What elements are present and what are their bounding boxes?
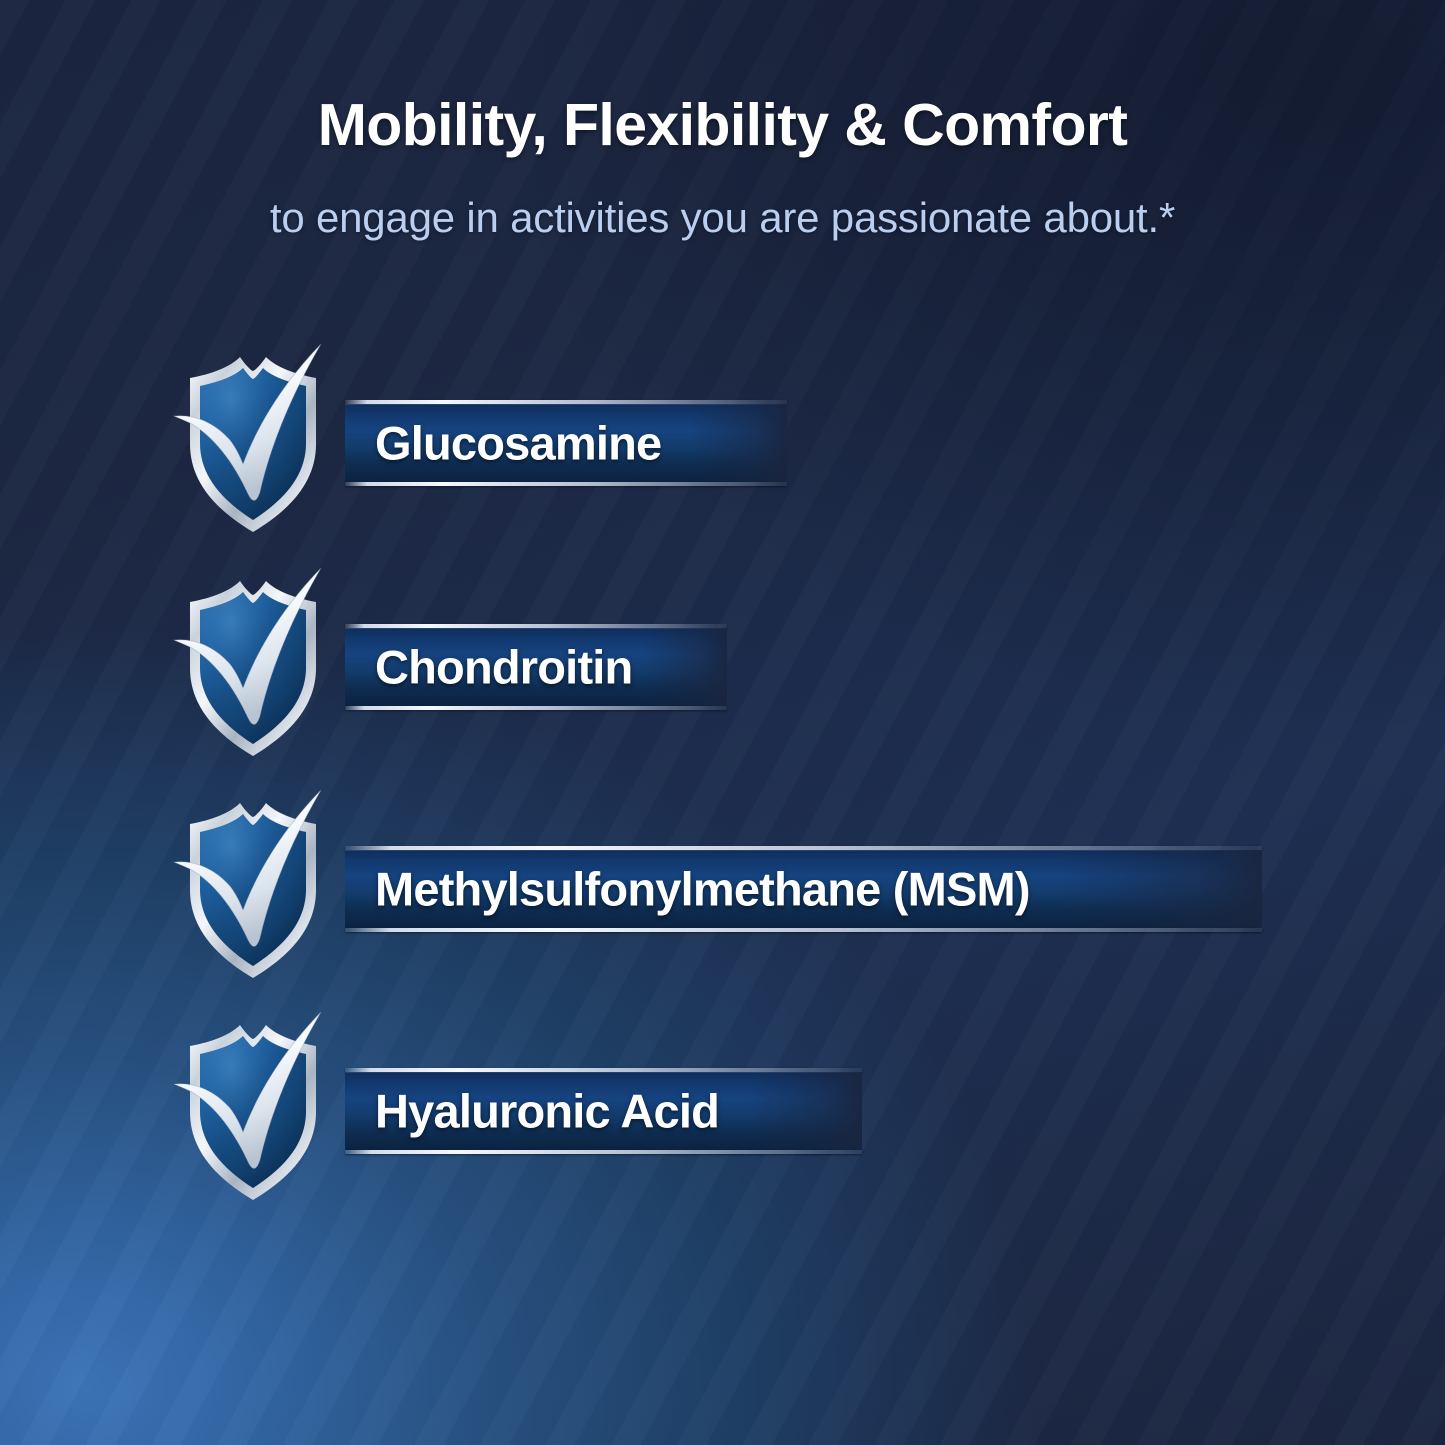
page-title: Mobility, Flexibility & Comfort (0, 96, 1445, 155)
benefit-label: Glucosamine (375, 420, 661, 467)
bar-chrome-line-bottom (345, 1150, 862, 1154)
benefit-label: Hyaluronic Acid (375, 1088, 719, 1135)
benefit-label-bar: Methylsulfonylmethane (MSM) (345, 846, 1240, 932)
benefit-label: Chondroitin (375, 644, 632, 691)
promo-panel: Mobility, Flexibility & Comfort to engag… (0, 0, 1445, 1445)
page-subtitle: to engage in activities you are passiona… (0, 197, 1445, 239)
benefit-label-bar: Hyaluronic Acid (345, 1068, 840, 1154)
shield-check-icon (178, 576, 328, 761)
shield-check-icon (178, 798, 328, 983)
benefit-row: Methylsulfonylmethane (MSM) (0, 798, 1445, 998)
benefit-row: Glucosamine (0, 352, 1445, 552)
benefit-row: Chondroitin (0, 576, 1445, 776)
benefit-label: Methylsulfonylmethane (MSM) (375, 866, 1030, 913)
bar-chrome-line-bottom (345, 482, 787, 486)
bar-chrome-line-bottom (345, 928, 1262, 932)
shield-check-icon (178, 352, 328, 537)
bar-chrome-line-bottom (345, 706, 727, 710)
benefit-label-bar: Glucosamine (345, 400, 765, 486)
benefit-row: Hyaluronic Acid (0, 1020, 1445, 1220)
benefit-label-bar: Chondroitin (345, 624, 705, 710)
shield-check-icon (178, 1020, 328, 1205)
